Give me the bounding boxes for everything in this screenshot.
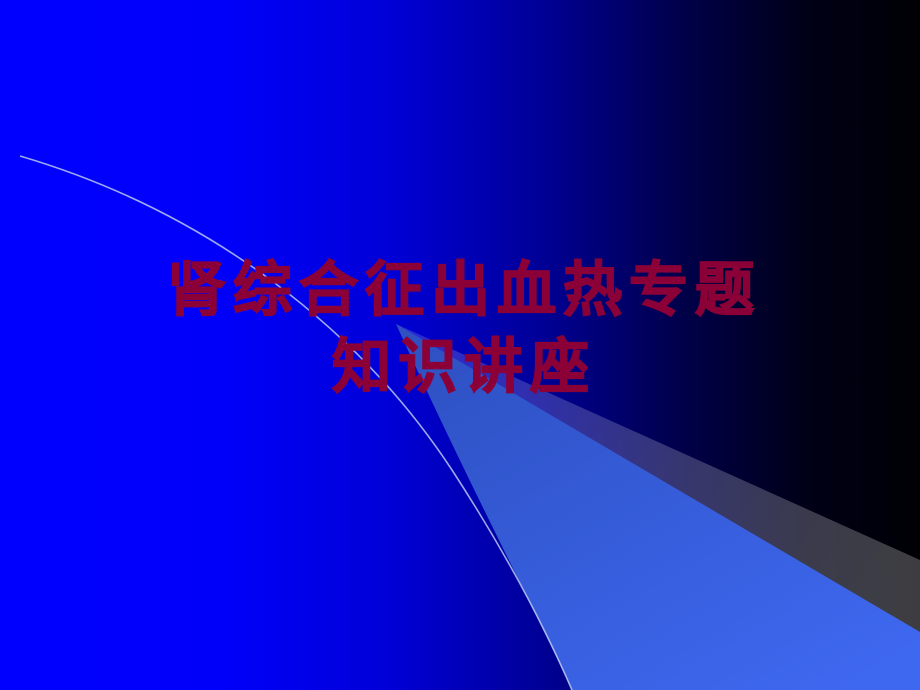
title-line-2: 知识讲座 [0,329,920,406]
accent-curve-line [20,156,572,690]
title-slide: 肾综合征出血热专题 知识讲座 [0,0,920,690]
slide-title: 肾综合征出血热专题 知识讲座 [0,252,920,405]
title-line-1: 肾综合征出血热专题 [0,252,920,329]
